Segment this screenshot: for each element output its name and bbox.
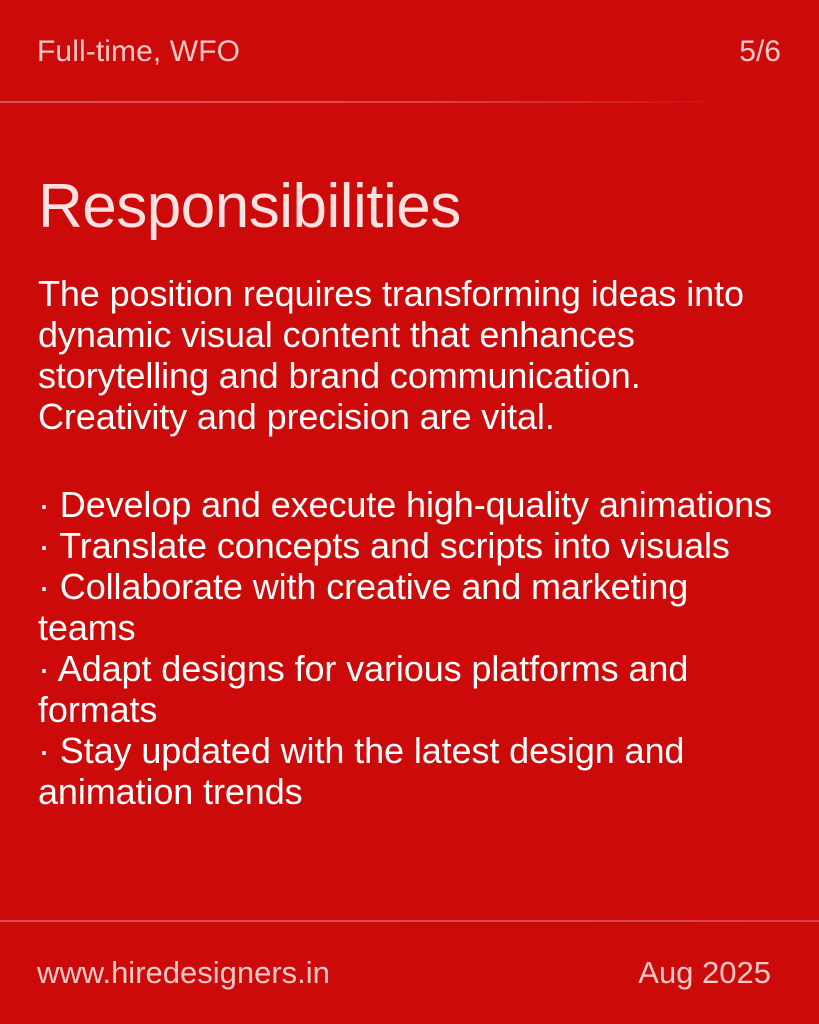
posting-date: Aug 2025 bbox=[638, 957, 771, 988]
slide-header: Full-time, WFO 5/6 bbox=[0, 0, 819, 103]
list-item: · Adapt designs for various platforms an… bbox=[38, 648, 781, 730]
job-post-slide: Full-time, WFO 5/6 Responsibilities The … bbox=[0, 0, 819, 1024]
list-item: · Stay updated with the latest design an… bbox=[38, 730, 781, 812]
footer-divider bbox=[0, 920, 819, 922]
slide-footer: www.hiredesigners.in Aug 2025 bbox=[0, 920, 819, 1024]
list-item: · Develop and execute high-quality anima… bbox=[38, 484, 781, 525]
employment-type-label: Full-time, WFO bbox=[37, 37, 240, 67]
website-url[interactable]: www.hiredesigners.in bbox=[37, 957, 330, 988]
responsibilities-list: · Develop and execute high-quality anima… bbox=[38, 437, 781, 812]
page-title: Responsibilities bbox=[38, 103, 781, 238]
slide-body: Responsibilities The position requires t… bbox=[0, 103, 819, 920]
list-item: · Collaborate with creative and marketin… bbox=[38, 566, 781, 648]
intro-paragraph: The position requires transforming ideas… bbox=[38, 238, 781, 437]
page-indicator: 5/6 bbox=[739, 37, 781, 67]
list-item: · Translate concepts and scripts into vi… bbox=[38, 525, 781, 566]
